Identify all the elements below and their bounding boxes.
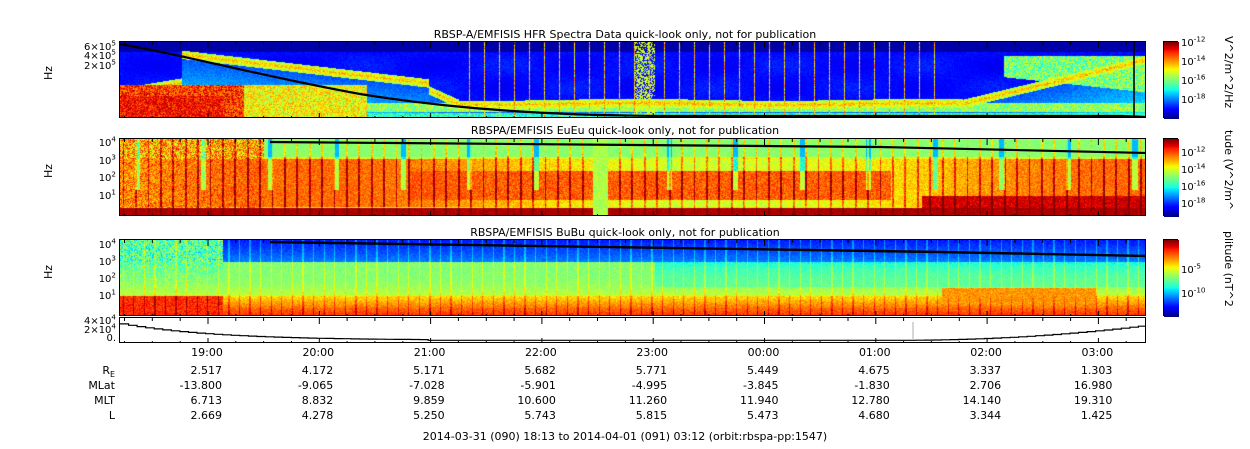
panel-1-yaxis-label: Hz	[42, 66, 55, 80]
panel-2-cbtick-2: 10-16	[1181, 182, 1205, 193]
ephemeris-cell: 4.278	[248, 409, 333, 422]
panel-2-ytick-1: 103	[56, 156, 116, 167]
ephemeris-row-label-mlat: MLat	[20, 379, 115, 392]
ephemeris-cell: 9.859	[360, 394, 445, 407]
time-tick-0300: 03:00	[1057, 346, 1137, 359]
panel-2-spectrogram[interactable]	[119, 138, 1146, 216]
ephemeris-cell: 14.140	[916, 394, 1001, 407]
figure-footer: 2014-03-31 (090) 18:13 to 2014-04-01 (09…	[0, 430, 1250, 443]
panel-1-ytick-2-text: 2×10	[84, 61, 111, 72]
panel-2-ytick-0: 104	[56, 138, 116, 149]
panel-3-ytick-1: 103	[56, 257, 116, 268]
panel-3-cbtick-0: 10-5	[1181, 265, 1201, 276]
ephemeris-cell: 19.310	[1027, 394, 1112, 407]
panel-1-cbtick-2: 10-16	[1181, 76, 1205, 87]
panel-2-ytick-2: 102	[56, 173, 116, 184]
altitude-panel[interactable]	[119, 317, 1146, 343]
ephemeris-cell: 5.743	[471, 409, 556, 422]
ephemeris-cell: 4.675	[805, 364, 890, 377]
panel-2-colorbar-label: tude (V^2/m^	[1222, 130, 1235, 210]
panel-1-cbtick-3: 10-18	[1181, 95, 1205, 106]
panel-1-cbtick-0: 10-12	[1181, 38, 1205, 49]
ephemeris-cell: 2.517	[137, 364, 222, 377]
panel-2-title: RBSPA/EMFISIS EuEu quick-look only, not …	[0, 124, 1250, 137]
time-tick-2000: 20:00	[278, 346, 358, 359]
time-tick-2100: 21:00	[390, 346, 470, 359]
ephemeris-cell: 2.669	[137, 409, 222, 422]
panel-3-ytick-3: 101	[56, 291, 116, 302]
panel-1-title: RBSP-A/EMFISIS HFR Spectra Data quick-lo…	[0, 28, 1250, 41]
panel-1-cbtick-1: 10-14	[1181, 57, 1205, 68]
ephemeris-cell: 4.680	[805, 409, 890, 422]
panel-3-colorbar-label: plitude (nT^2	[1222, 231, 1235, 307]
altitude-ytick-2: 0.	[52, 333, 116, 344]
ephemeris-cell: -5.901	[471, 379, 556, 392]
ephemeris-row-label-r: RE	[20, 364, 115, 377]
panel-2-cbtick-1: 10-14	[1181, 165, 1205, 176]
ephemeris-cell: 11.940	[694, 394, 779, 407]
panel-1-spectrogram[interactable]	[119, 41, 1146, 118]
time-tick-2200: 22:00	[501, 346, 581, 359]
ephemeris-cell: 5.250	[360, 409, 445, 422]
panel-2-cbtick-0: 10-12	[1181, 148, 1205, 159]
ephemeris-cell: -4.995	[582, 379, 667, 392]
panel-1-colorbar-label: V^2/m^2/Hz	[1222, 36, 1235, 108]
panel-3-title: RBSPA/EMFISIS BuBu quick-look only, not …	[0, 226, 1250, 239]
ephemeris-cell: -7.028	[360, 379, 445, 392]
ephemeris-cell: 4.172	[248, 364, 333, 377]
ephemeris-cell: 5.449	[694, 364, 779, 377]
time-tick-0200: 02:00	[946, 346, 1026, 359]
ephemeris-cell: 3.344	[916, 409, 1001, 422]
ephemeris-cell: 8.832	[248, 394, 333, 407]
panel-2-colorbar[interactable]	[1163, 138, 1178, 216]
ephemeris-cell: 1.303	[1027, 364, 1112, 377]
ephemeris-cell: 11.260	[582, 394, 667, 407]
panel-3-spectrogram[interactable]	[119, 239, 1146, 316]
ephemeris-cell: 3.337	[916, 364, 1001, 377]
time-tick-1900: 19:00	[167, 346, 247, 359]
panel-3-ytick-2: 102	[56, 274, 116, 285]
ephemeris-cell: 12.780	[805, 394, 890, 407]
ephemeris-cell: 10.600	[471, 394, 556, 407]
ephemeris-row-label-l: L	[20, 409, 115, 422]
ephemeris-cell: 1.425	[1027, 409, 1112, 422]
ephemeris-cell: 6.713	[137, 394, 222, 407]
ephemeris-cell: 16.980	[1027, 379, 1112, 392]
panel-1-colorbar[interactable]	[1163, 41, 1178, 118]
panel-3-colorbar[interactable]	[1163, 239, 1178, 316]
ephemeris-cell: -3.845	[694, 379, 779, 392]
panel-3-ytick-0: 104	[56, 240, 116, 251]
ephemeris-cell: 5.473	[694, 409, 779, 422]
ephemeris-cell: 5.815	[582, 409, 667, 422]
ephemeris-cell: -13.800	[137, 379, 222, 392]
ephemeris-cell: -9.065	[248, 379, 333, 392]
ephemeris-cell: 5.771	[582, 364, 667, 377]
panel-2-cbtick-3: 10-18	[1181, 199, 1205, 210]
ephemeris-cell: 5.682	[471, 364, 556, 377]
panel-2-ytick-3: 101	[56, 191, 116, 202]
time-tick-2300: 23:00	[612, 346, 692, 359]
ephemeris-cell: 5.171	[360, 364, 445, 377]
time-tick-0100: 01:00	[835, 346, 915, 359]
panel-2-yaxis-label: Hz	[42, 164, 55, 178]
panel-3-yaxis-label: Hz	[42, 265, 55, 279]
ephemeris-cell: 2.706	[916, 379, 1001, 392]
panel-1-ytick-2: 2×105	[56, 61, 116, 72]
panel-3-cbtick-1: 10-10	[1181, 289, 1205, 300]
ephemeris-row-label-mlt: MLT	[20, 394, 115, 407]
altitude-line	[120, 318, 1146, 343]
ephemeris-cell: -1.830	[805, 379, 890, 392]
time-tick-0000: 00:00	[724, 346, 804, 359]
